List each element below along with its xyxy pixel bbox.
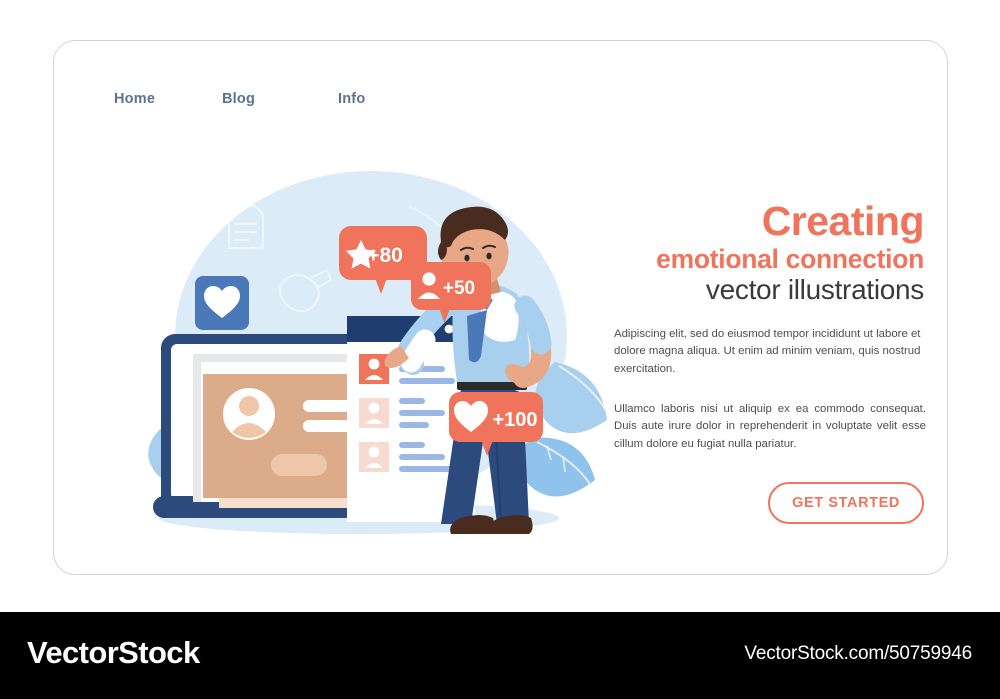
- body-paragraph-2: Ullamco laboris nisi ut aliquip ex ea co…: [614, 401, 926, 454]
- profile-line-1: [303, 400, 351, 412]
- nav-item-info[interactable]: Info: [338, 91, 365, 107]
- watermark-footer: VectorStock VectorStock.com/50759946: [0, 612, 1000, 699]
- brand-logo: VectorStock: [27, 635, 200, 671]
- nav-item-home[interactable]: Home: [114, 91, 155, 107]
- nav-item-blog[interactable]: Blog: [222, 91, 255, 107]
- headline-line-2: emotional connection: [614, 246, 924, 273]
- headline-line-3: vector illustrations: [614, 276, 924, 304]
- brand-url: VectorStock.com/50759946: [744, 643, 972, 665]
- badge-star-value: +80: [367, 244, 403, 267]
- badge-heart-value: +100: [492, 409, 537, 431]
- body-paragraph-1: Adipiscing elit, sed do eiusmod tempor i…: [614, 326, 926, 379]
- heart-square-badge: [195, 276, 249, 330]
- window-dot: [445, 325, 454, 334]
- hero-text-column: Creating emotional connection vector ill…: [614, 201, 924, 524]
- page-card: Home Blog Info: [53, 40, 948, 575]
- cta-container: GET STARTED: [614, 482, 924, 524]
- profile-button: [271, 454, 327, 476]
- profile-line-2: [303, 420, 351, 432]
- hero-illustration: +80 +50 +100: [109, 166, 629, 556]
- headline-line-1: Creating: [614, 201, 924, 242]
- badge-person-value: +50: [443, 278, 475, 299]
- get-started-button[interactable]: GET STARTED: [768, 482, 924, 524]
